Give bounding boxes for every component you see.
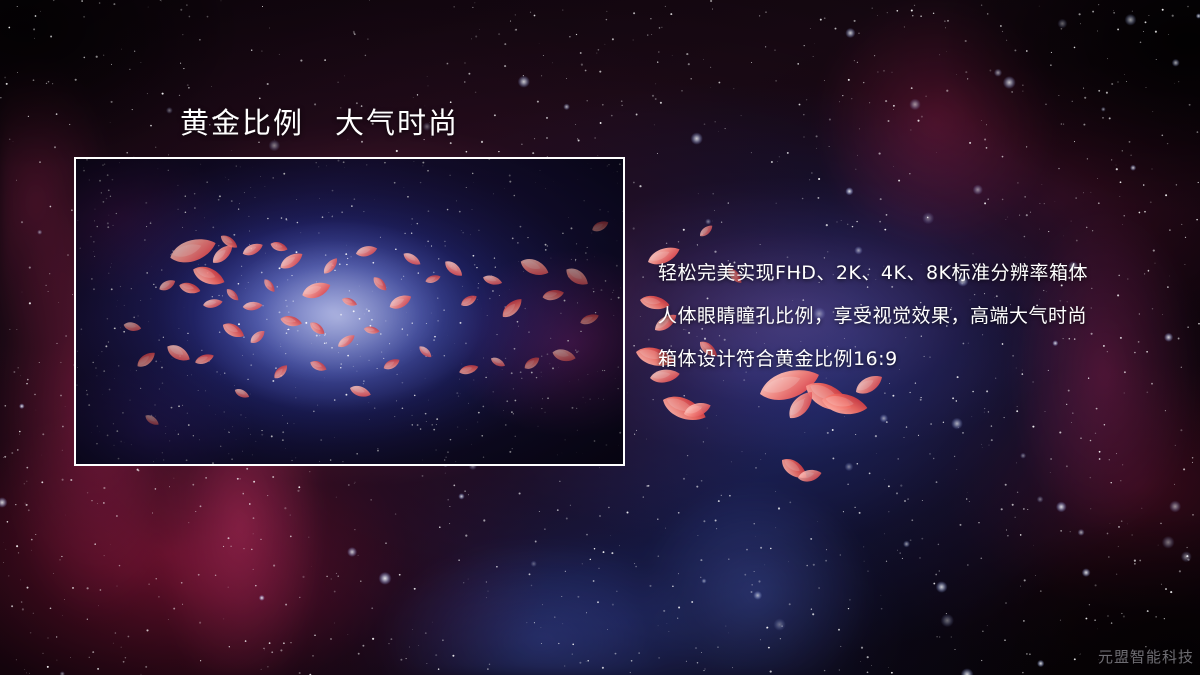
watermark: 元盟智能科技 — [1098, 646, 1194, 667]
body-text-block: 轻松完美实现FHD、2K、4K、8K标准分辨率箱体 人体眼睛瞳孔比例，享受视觉效… — [658, 252, 1158, 381]
body-line-1: 轻松完美实现FHD、2K、4K、8K标准分辨率箱体 — [658, 252, 1158, 295]
framed-image — [74, 157, 625, 466]
slide-canvas: 黄金比例 大气时尚 轻松完美实现FHD、2K、4K、8K标准分辨率箱体 人体眼睛… — [0, 0, 1200, 675]
body-line-2: 人体眼睛瞳孔比例，享受视觉效果，高端大气时尚 — [658, 295, 1158, 338]
page-title: 黄金比例 大气时尚 — [180, 100, 459, 142]
frame-vignette — [76, 159, 623, 464]
body-line-3: 箱体设计符合黄金比例16:9 — [658, 338, 1158, 381]
framed-image-content — [76, 159, 623, 464]
